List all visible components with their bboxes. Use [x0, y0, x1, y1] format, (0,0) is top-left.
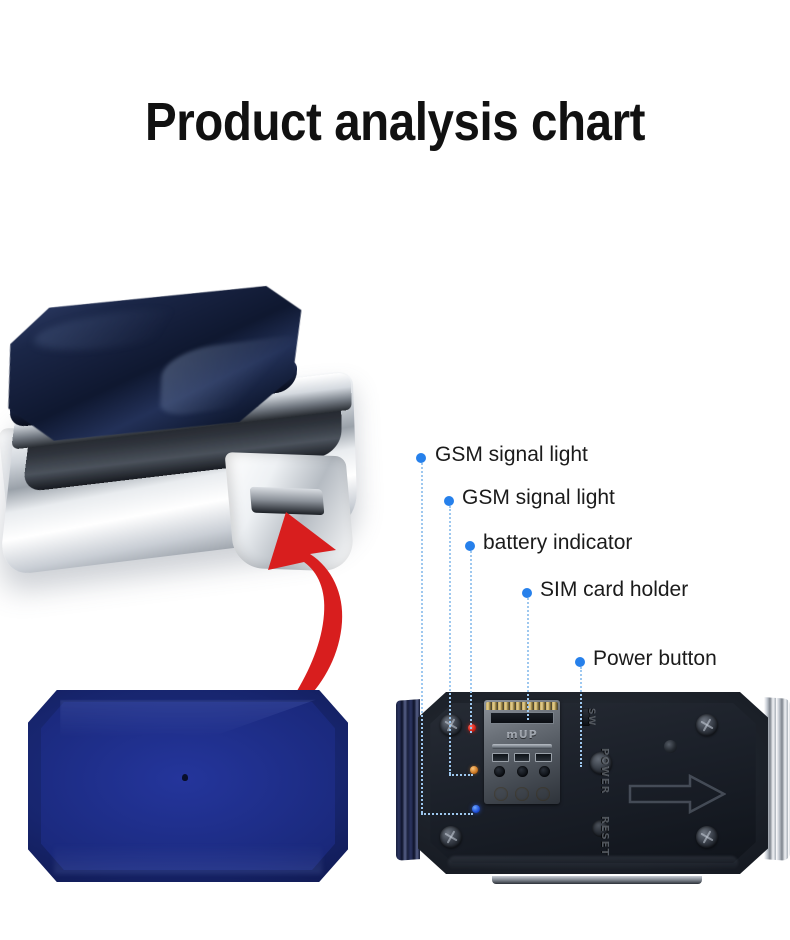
sim-card-holder: mUP	[484, 700, 560, 804]
callout-leader-line-battery-indicator	[470, 551, 472, 733]
lift-direction-arrow-icon	[248, 510, 368, 700]
gps-tracker-exploded-photo	[0, 258, 380, 583]
auxiliary-screw-hole	[664, 740, 677, 753]
blue-cover-top-photo	[28, 690, 348, 882]
callout-dot-battery-indicator[interactable]	[465, 541, 475, 551]
callout-dot-sim-card-holder[interactable]	[522, 588, 532, 598]
chassis-bottom-ridge	[448, 856, 738, 870]
corner-screw-top-left	[440, 714, 462, 736]
callout-dot-gsm-signal-light-2[interactable]	[444, 496, 454, 506]
callout-label-sim-card-holder: SIM card holder	[540, 578, 688, 602]
molded-label-power: POWER	[599, 748, 610, 794]
callout-leader-line-gsm-signal-light-2	[449, 506, 451, 774]
chassis-bottom-lip	[492, 876, 702, 884]
callout-leader-line-gsm-signal-light-1	[421, 463, 423, 813]
sim-hole	[494, 766, 505, 777]
sim-gold-contacts	[494, 787, 550, 801]
molded-label-switch: SW	[586, 708, 596, 726]
corner-screw-bottom-left	[440, 826, 462, 848]
sim-gold-contact	[536, 787, 550, 801]
left-edge-strips	[396, 699, 420, 861]
page-title: Product analysis chart	[47, 92, 742, 152]
cover-gloss-secondary	[32, 302, 198, 357]
sim-holder-marking: mUP	[484, 728, 560, 741]
sim-tray-bar	[492, 744, 552, 749]
sim-tray-slots	[492, 753, 552, 762]
callout-leader-line-power-button	[580, 667, 582, 767]
sim-gold-contact	[515, 787, 529, 801]
sim-contact-teeth	[486, 702, 558, 710]
cover-center-mark	[182, 774, 188, 781]
molded-label-reset: RESET	[599, 816, 610, 856]
sim-hole	[539, 766, 550, 777]
corner-screw-top-right	[696, 714, 718, 736]
callout-leader-line-sim-card-holder	[527, 598, 529, 720]
corner-screw-bottom-right	[696, 826, 718, 848]
callout-label-gsm-signal-light-1: GSM signal light	[435, 443, 588, 467]
sim-slot	[514, 753, 531, 762]
sim-hole	[517, 766, 528, 777]
sim-slot	[492, 753, 509, 762]
sim-slot	[535, 753, 552, 762]
callout-leader-elbow-gsm-signal-light-2	[449, 774, 473, 776]
sim-gold-contact	[494, 787, 508, 801]
callout-label-gsm-signal-light-2: GSM signal light	[462, 486, 615, 510]
callout-dot-gsm-signal-light-1[interactable]	[416, 453, 426, 463]
callout-label-battery-indicator: battery indicator	[483, 531, 632, 555]
embossed-direction-arrow-icon	[628, 774, 726, 814]
led-blue-indicator	[472, 805, 480, 813]
sim-tray-holes	[494, 766, 550, 778]
led-orange-indicator	[470, 766, 478, 774]
callout-dot-power-button[interactable]	[575, 657, 585, 667]
callout-leader-elbow-gsm-signal-light-1	[421, 813, 473, 815]
callout-label-power-button: Power button	[593, 647, 717, 671]
sim-tray-window	[490, 712, 554, 724]
tracker-internals-photo: mUP SW POWER RESET	[396, 686, 790, 882]
cover-bottom-ridge	[54, 844, 323, 875]
